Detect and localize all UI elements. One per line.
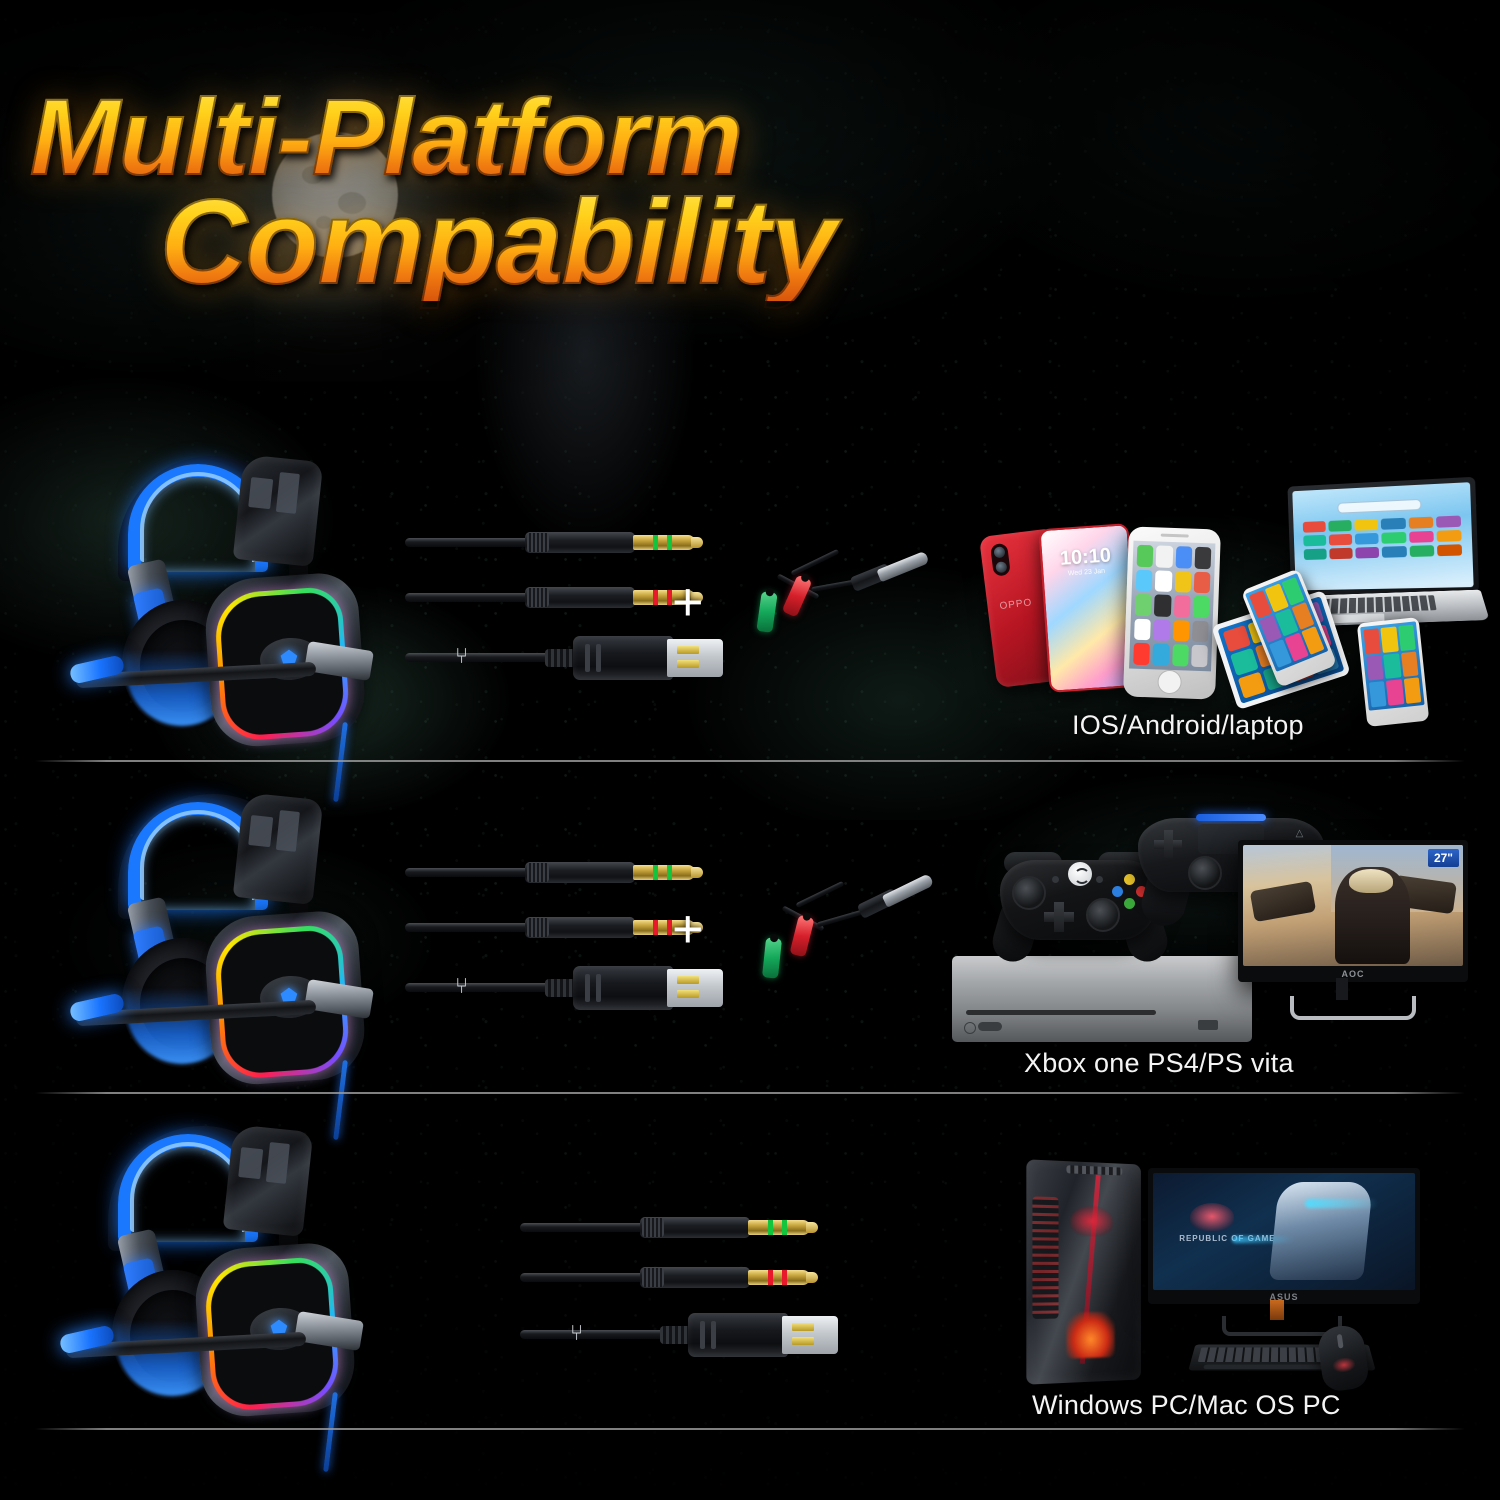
controller-menu-button bbox=[1096, 876, 1103, 883]
gaming-headset: ⬟ bbox=[70, 788, 370, 1078]
jack-gold-pin bbox=[748, 1270, 810, 1285]
monitor-aoc: 27" AOC bbox=[1238, 840, 1468, 1018]
monitor-size-badge: 27" bbox=[1428, 849, 1459, 867]
splitter-male-plug bbox=[876, 551, 929, 583]
phone-brand-label: OPPO bbox=[999, 597, 1033, 612]
jack-color-ring bbox=[653, 920, 658, 935]
button-x bbox=[1112, 886, 1123, 897]
monitor-frame: 27" AOC bbox=[1238, 840, 1468, 982]
monitor-screen: 27" bbox=[1243, 845, 1463, 966]
console-power-button bbox=[964, 1022, 976, 1034]
caption-mobile: IOS/Android/laptop bbox=[1072, 710, 1304, 741]
button-a bbox=[1124, 898, 1135, 909]
jack-gold-pin bbox=[633, 865, 695, 880]
tower-top-ports bbox=[1066, 1165, 1122, 1175]
title-line-2: Compability bbox=[160, 184, 850, 302]
jack-color-ring bbox=[667, 535, 672, 550]
splitter-socket-red bbox=[789, 915, 814, 958]
row-console: ⬟ bbox=[0, 770, 1500, 1090]
smartphone-blue-b bbox=[1357, 617, 1430, 727]
console-disc-slot bbox=[966, 1010, 1156, 1015]
jack-color-ring bbox=[768, 1270, 773, 1285]
row-mobile: ⬟ bbox=[0, 430, 1500, 760]
headset-top-plate bbox=[233, 792, 324, 905]
xbox-controller bbox=[1000, 846, 1160, 956]
controller-dpad bbox=[1154, 830, 1182, 858]
phone-camera bbox=[990, 543, 1011, 577]
plus-symbol: + bbox=[672, 575, 704, 629]
title-line-1: Multi-Platform bbox=[30, 84, 850, 190]
jack-tip bbox=[691, 537, 703, 548]
monitor-screen: REPUBLIC OF GAMERS bbox=[1153, 1173, 1415, 1290]
laptop-search-bar bbox=[1337, 499, 1421, 514]
divider-row2-row3 bbox=[35, 1092, 1465, 1094]
usb-shell bbox=[688, 1313, 788, 1357]
divider-row1-row2 bbox=[35, 760, 1465, 762]
mouse-led-glow bbox=[1332, 1356, 1356, 1373]
rog-logo-icon bbox=[1190, 1203, 1234, 1231]
xbox-guide-button bbox=[1068, 862, 1092, 886]
cable-wire bbox=[405, 983, 555, 992]
rog-desktop-tower bbox=[1026, 1159, 1141, 1384]
monitor-brand-label: AOC bbox=[1238, 969, 1468, 979]
usb-shell bbox=[573, 636, 673, 680]
cable-wire bbox=[405, 593, 545, 602]
game-energy-beam bbox=[1305, 1199, 1378, 1208]
divider-bottom bbox=[35, 1428, 1465, 1430]
cable-bundle: ⑂ bbox=[520, 1215, 850, 1375]
jack-grip bbox=[527, 863, 549, 882]
row-pc: ⬟ bbox=[0, 1110, 1500, 1428]
jack-grip bbox=[527, 533, 549, 552]
console-usb-port bbox=[1198, 1020, 1218, 1030]
jack-gold-pin bbox=[748, 1220, 810, 1235]
jack-color-ring bbox=[653, 535, 658, 550]
usb-contact-tongue bbox=[667, 969, 723, 1007]
usb-contact-pad bbox=[677, 660, 699, 668]
button-triangle: △ bbox=[1294, 828, 1305, 839]
controller-dpad bbox=[1044, 902, 1074, 932]
ps4-light-bar bbox=[1196, 814, 1266, 821]
console-eject-button bbox=[978, 1022, 1002, 1031]
game-character-mech bbox=[1268, 1182, 1373, 1280]
splitter-socket-green bbox=[756, 591, 777, 633]
xbox-one-console bbox=[952, 956, 1252, 1042]
monitor-brand-label: ASUS bbox=[1148, 1292, 1420, 1302]
usb-contact-tongue bbox=[782, 1316, 838, 1354]
splitter-lead bbox=[791, 549, 840, 576]
headset-top-plate bbox=[233, 454, 324, 567]
jack-grip bbox=[642, 1268, 664, 1287]
jack-color-ring bbox=[782, 1220, 787, 1235]
cable-wire bbox=[405, 868, 545, 877]
cable-wire bbox=[520, 1223, 660, 1232]
plus-symbol: + bbox=[672, 902, 704, 956]
tower-side-vent bbox=[1032, 1196, 1058, 1319]
cable-wire bbox=[405, 653, 555, 662]
monitor-stand bbox=[1290, 996, 1416, 1020]
jack-grip bbox=[527, 588, 549, 607]
jack-tip bbox=[691, 867, 703, 878]
splitter-socket-green bbox=[762, 937, 782, 978]
jack-grip bbox=[527, 918, 549, 937]
gaming-mouse bbox=[1316, 1323, 1370, 1393]
usb-icon: ⑂ bbox=[570, 1322, 583, 1344]
laptop-lid bbox=[1287, 477, 1479, 596]
jack-color-ring bbox=[768, 1220, 773, 1235]
iphone-screen bbox=[1129, 541, 1215, 672]
controller-stick-left bbox=[1012, 876, 1046, 910]
game-weapon-left bbox=[1250, 881, 1316, 923]
y-splitter-adapter bbox=[755, 558, 905, 648]
jack-color-ring bbox=[653, 865, 658, 880]
caption-console: Xbox one PS4/PS vita bbox=[1024, 1048, 1294, 1079]
iphone-home-button bbox=[1157, 670, 1182, 695]
usb-contact-pad bbox=[792, 1323, 814, 1331]
rog-ultrawide-monitor: REPUBLIC OF GAMERS ASUS bbox=[1148, 1168, 1420, 1330]
iphone-white bbox=[1123, 526, 1221, 699]
usb-icon: ⑂ bbox=[455, 975, 468, 997]
usb-icon: ⑂ bbox=[455, 645, 468, 667]
monitor-frame: REPUBLIC OF GAMERS ASUS bbox=[1148, 1168, 1420, 1304]
game-energy-beam bbox=[1232, 1236, 1295, 1243]
cable-wire bbox=[405, 923, 545, 932]
splitter-lead bbox=[796, 881, 845, 908]
jack-tip bbox=[806, 1272, 818, 1283]
controller-stick-left bbox=[1188, 856, 1222, 890]
jack-gold-pin bbox=[633, 535, 695, 550]
controller-view-button bbox=[1052, 876, 1059, 883]
rog-logo-icon bbox=[1070, 1206, 1112, 1237]
y-splitter-adapter bbox=[760, 890, 910, 980]
product-feature-image: Multi-Platform Compability ⬟ bbox=[0, 0, 1500, 1500]
controller-stick-right bbox=[1086, 898, 1120, 932]
smartphone-screen bbox=[1360, 621, 1424, 710]
cable-wire bbox=[405, 538, 545, 547]
tower-front-glow bbox=[1066, 1312, 1114, 1359]
cable-wire bbox=[520, 1330, 670, 1339]
headset-top-plate bbox=[223, 1124, 314, 1237]
usb-contact-pad bbox=[677, 976, 699, 984]
jack-color-ring bbox=[653, 590, 658, 605]
usb-contact-pad bbox=[677, 646, 699, 654]
jack-tip bbox=[806, 1222, 818, 1233]
usb-contact-pad bbox=[792, 1337, 814, 1345]
jack-grip bbox=[642, 1218, 664, 1237]
usb-shell bbox=[573, 966, 673, 1010]
cable-wire bbox=[520, 1273, 660, 1282]
page-title: Multi-Platform Compability bbox=[30, 84, 850, 301]
laptop-screen bbox=[1292, 482, 1473, 590]
caption-pc: Windows PC/Mac OS PC bbox=[1032, 1390, 1341, 1421]
iphone-speaker bbox=[1161, 534, 1189, 538]
usb-contact-pad bbox=[677, 990, 699, 998]
game-character-mask bbox=[1349, 869, 1393, 893]
gaming-headset: ⬟ bbox=[60, 1120, 360, 1410]
gaming-headset: ⬟ bbox=[70, 450, 370, 740]
button-y bbox=[1124, 874, 1135, 885]
jack-color-ring bbox=[782, 1270, 787, 1285]
jack-color-ring bbox=[667, 865, 672, 880]
usb-contact-tongue bbox=[667, 639, 723, 677]
